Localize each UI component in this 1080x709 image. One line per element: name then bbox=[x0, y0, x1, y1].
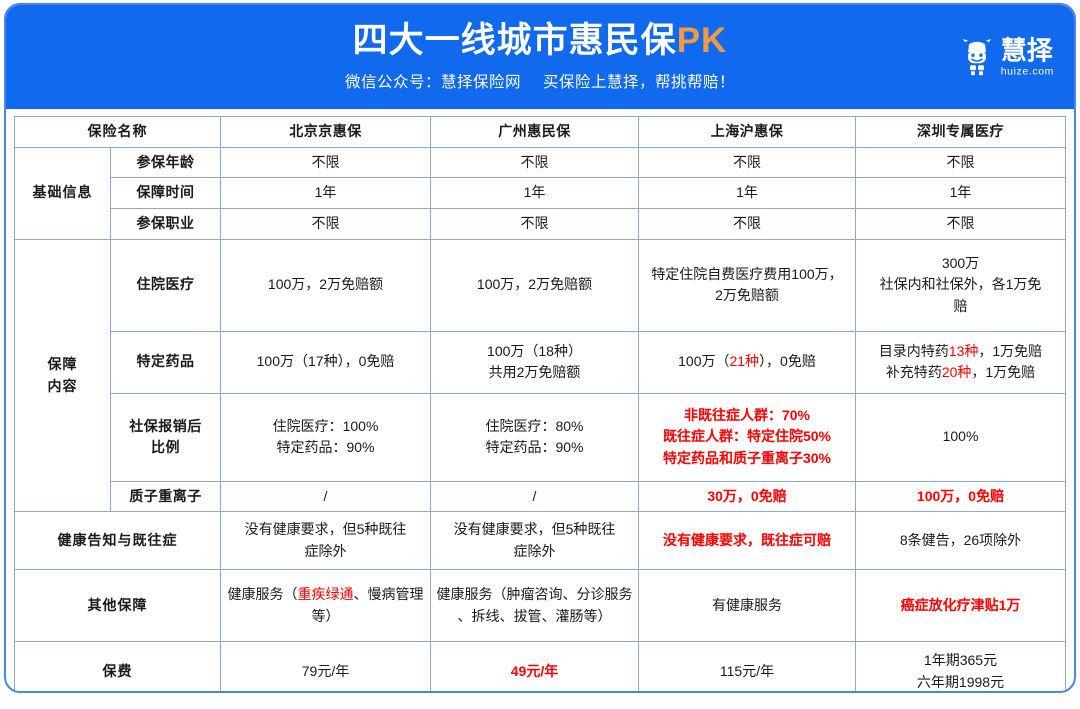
cell-line: 社保内和社保外，各1万免 bbox=[861, 274, 1060, 296]
row-label-age: 参保年龄 bbox=[111, 147, 221, 178]
product-header-guangzhou: 广州惠民保 bbox=[431, 117, 639, 148]
card-frame: 四大一线城市惠民保PK 微信公众号：慧择保险网买保险上慧择，帮挑帮赔！ bbox=[4, 3, 1076, 693]
cell-line: 非既往症人群：70% bbox=[644, 405, 850, 427]
page-title-accent: PK bbox=[677, 21, 728, 60]
cell-term-beijing: 1年 bbox=[221, 178, 431, 209]
cell-line: 特定住院自费医疗费用100万， bbox=[644, 264, 850, 286]
table-row: 保费 79元/年 49元/年 115元/年 1年期365元 六年期1998元 bbox=[15, 642, 1066, 693]
cell-line: 住院医疗：100% bbox=[226, 416, 425, 438]
cell-text: 健康服务（ bbox=[228, 586, 298, 602]
brand-domain: huize.com bbox=[1001, 66, 1054, 77]
cell-age-shanghai: 不限 bbox=[639, 147, 856, 178]
cell-other-beijing: 健康服务（重疾绿通、慢病管理 等） bbox=[221, 570, 431, 642]
cell-line: 、拆线、拔管、灌肠等） bbox=[436, 606, 633, 628]
cell-occupation-shanghai: 不限 bbox=[639, 209, 856, 240]
row-label-premium: 保费 bbox=[15, 642, 221, 693]
cell-highlight: 13种 bbox=[949, 343, 979, 359]
brand-wordmark: 慧择 huize.com bbox=[1001, 37, 1054, 77]
cell-line: 六年期1998元 bbox=[861, 672, 1060, 693]
product-header-shenzhen: 深圳专属医疗 bbox=[856, 117, 1066, 148]
cell-special-drugs-beijing: 100万（17种），0免赔 bbox=[221, 331, 431, 393]
cell-proton-shanghai: 30万，0免赔 bbox=[639, 481, 856, 512]
brand-logo: 慧择 huize.com bbox=[960, 37, 1054, 77]
row-label-occupation: 参保职业 bbox=[111, 209, 221, 240]
header-banner: 四大一线城市惠民保PK 微信公众号：慧择保险网买保险上慧择，帮挑帮赔！ bbox=[6, 5, 1074, 109]
table-row: 保障 内容 住院医疗 100万，2万免赔额 100万，2万免赔额 特定住院自费医… bbox=[15, 239, 1066, 331]
product-header-beijing: 北京京惠保 bbox=[221, 117, 431, 148]
cell-line: 赔 bbox=[861, 296, 1060, 318]
cell-text: ，1万免赔 bbox=[971, 364, 1035, 380]
cell-line: 特定药品和质子重离子30% bbox=[644, 448, 850, 470]
cell-premium-guangzhou: 49元/年 bbox=[431, 642, 639, 693]
cell-hospitalization-beijing: 100万，2万免赔额 bbox=[221, 239, 431, 331]
cell-term-shanghai: 1年 bbox=[639, 178, 856, 209]
cell-health-beijing: 没有健康要求，但5种既往 症除外 bbox=[221, 512, 431, 570]
cell-line: 100万（18种） bbox=[436, 341, 633, 363]
cell-line: 症除外 bbox=[226, 541, 425, 563]
cell-special-drugs-shanghai: 100万（21种），0免赔 bbox=[639, 331, 856, 393]
cell-ratio-shenzhen: 100% bbox=[856, 393, 1066, 481]
cell-occupation-beijing: 不限 bbox=[221, 209, 431, 240]
row-label-other-benefits: 其他保障 bbox=[15, 570, 221, 642]
cell-highlight: 20种 bbox=[942, 364, 972, 380]
cell-age-beijing: 不限 bbox=[221, 147, 431, 178]
row-label-proton-heavy-ion: 质子重离子 bbox=[111, 481, 221, 512]
cell-text: 目录内特药 bbox=[879, 343, 949, 359]
row-label-l1: 社保报销后 bbox=[116, 416, 215, 438]
group-label-coverage-l2: 内容 bbox=[20, 376, 105, 398]
cell-text: ），0免赔 bbox=[759, 353, 816, 369]
cell-other-shanghai: 有健康服务 bbox=[639, 570, 856, 642]
page-subtitle: 微信公众号：慧择保险网买保险上慧择，帮挑帮赔！ bbox=[345, 70, 735, 92]
comparison-infographic: 四大一线城市惠民保PK 微信公众号：慧择保险网买保险上慧择，帮挑帮赔！ bbox=[0, 0, 1080, 709]
cell-occupation-shenzhen: 不限 bbox=[856, 209, 1066, 240]
table-header-row: 保险名称 北京京惠保 广州惠民保 上海沪惠保 深圳专属医疗 bbox=[15, 117, 1066, 148]
cell-health-shanghai: 没有健康要求，既往症可赔 bbox=[639, 512, 856, 570]
cell-line: 补充特药20种，1万免赔 bbox=[861, 362, 1060, 384]
cell-ratio-beijing: 住院医疗：100% 特定药品：90% bbox=[221, 393, 431, 481]
page-title: 四大一线城市惠民保PK bbox=[353, 20, 728, 61]
cell-line: 2万免赔额 bbox=[644, 285, 850, 307]
cell-other-shenzhen: 癌症放化疗津贴1万 bbox=[856, 570, 1066, 642]
cell-line: 既往症人群：特定住院50% bbox=[644, 426, 850, 448]
row-label-reimbursement-ratio: 社保报销后 比例 bbox=[111, 393, 221, 481]
cell-hospitalization-guangzhou: 100万，2万免赔额 bbox=[431, 239, 639, 331]
cell-text: 100万（ bbox=[678, 353, 729, 369]
brand-name-cn: 慧择 bbox=[1001, 37, 1053, 63]
table-row: 参保职业 不限 不限 不限 不限 bbox=[15, 209, 1066, 240]
cell-health-shenzhen: 8条健告，26项除外 bbox=[856, 512, 1066, 570]
cell-line: 等） bbox=[226, 606, 425, 628]
cell-premium-shenzhen: 1年期365元 六年期1998元 bbox=[856, 642, 1066, 693]
cell-highlight: 重疾绿通 bbox=[298, 586, 354, 602]
cell-line: 目录内特药13种，1万免赔 bbox=[861, 341, 1060, 363]
cell-hospitalization-shenzhen: 300万 社保内和社保外，各1万免 赔 bbox=[856, 239, 1066, 331]
cell-ratio-shanghai: 非既往症人群：70% 既往症人群：特定住院50% 特定药品和质子重离子30% bbox=[639, 393, 856, 481]
table-row: 质子重离子 / / 30万，0免赔 100万，0免赔 bbox=[15, 481, 1066, 512]
cell-line: 症除外 bbox=[436, 541, 633, 563]
cell-special-drugs-guangzhou: 100万（18种） 共用2万免赔额 bbox=[431, 331, 639, 393]
table-row: 保障时间 1年 1年 1年 1年 bbox=[15, 178, 1066, 209]
row-label-term: 保障时间 bbox=[111, 178, 221, 209]
cell-line: 住院医疗：80% bbox=[436, 416, 633, 438]
cell-term-shenzhen: 1年 bbox=[856, 178, 1066, 209]
cell-line: 健康服务（肿瘤咨询、分诊服务 bbox=[436, 584, 633, 606]
group-label-basic-info: 基础信息 bbox=[15, 147, 111, 239]
cell-proton-beijing: / bbox=[221, 481, 431, 512]
row-label-special-drugs: 特定药品 bbox=[111, 331, 221, 393]
banner-text-block: 四大一线城市惠民保PK 微信公众号：慧择保险网买保险上慧择，帮挑帮赔！ bbox=[6, 5, 1074, 109]
table-row: 特定药品 100万（17种），0免赔 100万（18种） 共用2万免赔额 100… bbox=[15, 331, 1066, 393]
cell-special-drugs-shenzhen: 目录内特药13种，1万免赔 补充特药20种，1万免赔 bbox=[856, 331, 1066, 393]
cell-premium-shanghai: 115元/年 bbox=[639, 642, 856, 693]
page-title-main: 四大一线城市惠民保 bbox=[353, 21, 677, 60]
group-label-coverage: 保障 内容 bbox=[15, 239, 111, 512]
subtitle-slogan: 买保险上慧择，帮挑帮赔！ bbox=[543, 74, 735, 91]
cell-text: 、慢病管理 bbox=[354, 586, 424, 602]
cell-age-shenzhen: 不限 bbox=[856, 147, 1066, 178]
header-label-product-name: 保险名称 bbox=[15, 117, 221, 148]
cell-line: 300万 bbox=[861, 253, 1060, 275]
cell-proton-shenzhen: 100万，0免赔 bbox=[856, 481, 1066, 512]
cell-line: 没有健康要求，但5种既往 bbox=[436, 519, 633, 541]
cell-text: ，1万免赔 bbox=[978, 343, 1042, 359]
cow-mascot-icon bbox=[960, 38, 994, 76]
cell-line: 1年期365元 bbox=[861, 650, 1060, 672]
comparison-table-wrapper: 保险名称 北京京惠保 广州惠民保 上海沪惠保 深圳专属医疗 基础信息 参保年龄 … bbox=[6, 109, 1074, 693]
cell-ratio-guangzhou: 住院医疗：80% 特定药品：90% bbox=[431, 393, 639, 481]
cell-line: 共用2万免赔额 bbox=[436, 362, 633, 384]
cell-proton-guangzhou: / bbox=[431, 481, 639, 512]
cell-line: 特定药品：90% bbox=[226, 437, 425, 459]
row-label-l2: 比例 bbox=[116, 437, 215, 459]
cell-other-guangzhou: 健康服务（肿瘤咨询、分诊服务 、拆线、拔管、灌肠等） bbox=[431, 570, 639, 642]
table-row: 社保报销后 比例 住院医疗：100% 特定药品：90% 住院医疗：80% 特定药… bbox=[15, 393, 1066, 481]
cell-highlight: 21种 bbox=[729, 353, 759, 369]
cell-health-guangzhou: 没有健康要求，但5种既往 症除外 bbox=[431, 512, 639, 570]
row-label-hospitalization: 住院医疗 bbox=[111, 239, 221, 331]
product-header-shanghai: 上海沪惠保 bbox=[639, 117, 856, 148]
subtitle-wechat: 微信公众号：慧择保险网 bbox=[345, 74, 521, 91]
cell-line: 健康服务（重疾绿通、慢病管理 bbox=[226, 584, 425, 606]
group-label-coverage-l1: 保障 bbox=[20, 354, 105, 376]
cell-line: 特定药品：90% bbox=[436, 437, 633, 459]
cell-text: 补充特药 bbox=[886, 364, 942, 380]
cell-premium-beijing: 79元/年 bbox=[221, 642, 431, 693]
table-row: 其他保障 健康服务（重疾绿通、慢病管理 等） 健康服务（肿瘤咨询、分诊服务 、拆… bbox=[15, 570, 1066, 642]
table-row: 基础信息 参保年龄 不限 不限 不限 不限 bbox=[15, 147, 1066, 178]
row-label-health-disclosure: 健康告知与既往症 bbox=[15, 512, 221, 570]
cell-occupation-guangzhou: 不限 bbox=[431, 209, 639, 240]
comparison-table: 保险名称 北京京惠保 广州惠民保 上海沪惠保 深圳专属医疗 基础信息 参保年龄 … bbox=[14, 116, 1066, 693]
cell-term-guangzhou: 1年 bbox=[431, 178, 639, 209]
cell-hospitalization-shanghai: 特定住院自费医疗费用100万， 2万免赔额 bbox=[639, 239, 856, 331]
cell-age-guangzhou: 不限 bbox=[431, 147, 639, 178]
cell-line: 没有健康要求，但5种既往 bbox=[226, 519, 425, 541]
table-row: 健康告知与既往症 没有健康要求，但5种既往 症除外 没有健康要求，但5种既往 症… bbox=[15, 512, 1066, 570]
